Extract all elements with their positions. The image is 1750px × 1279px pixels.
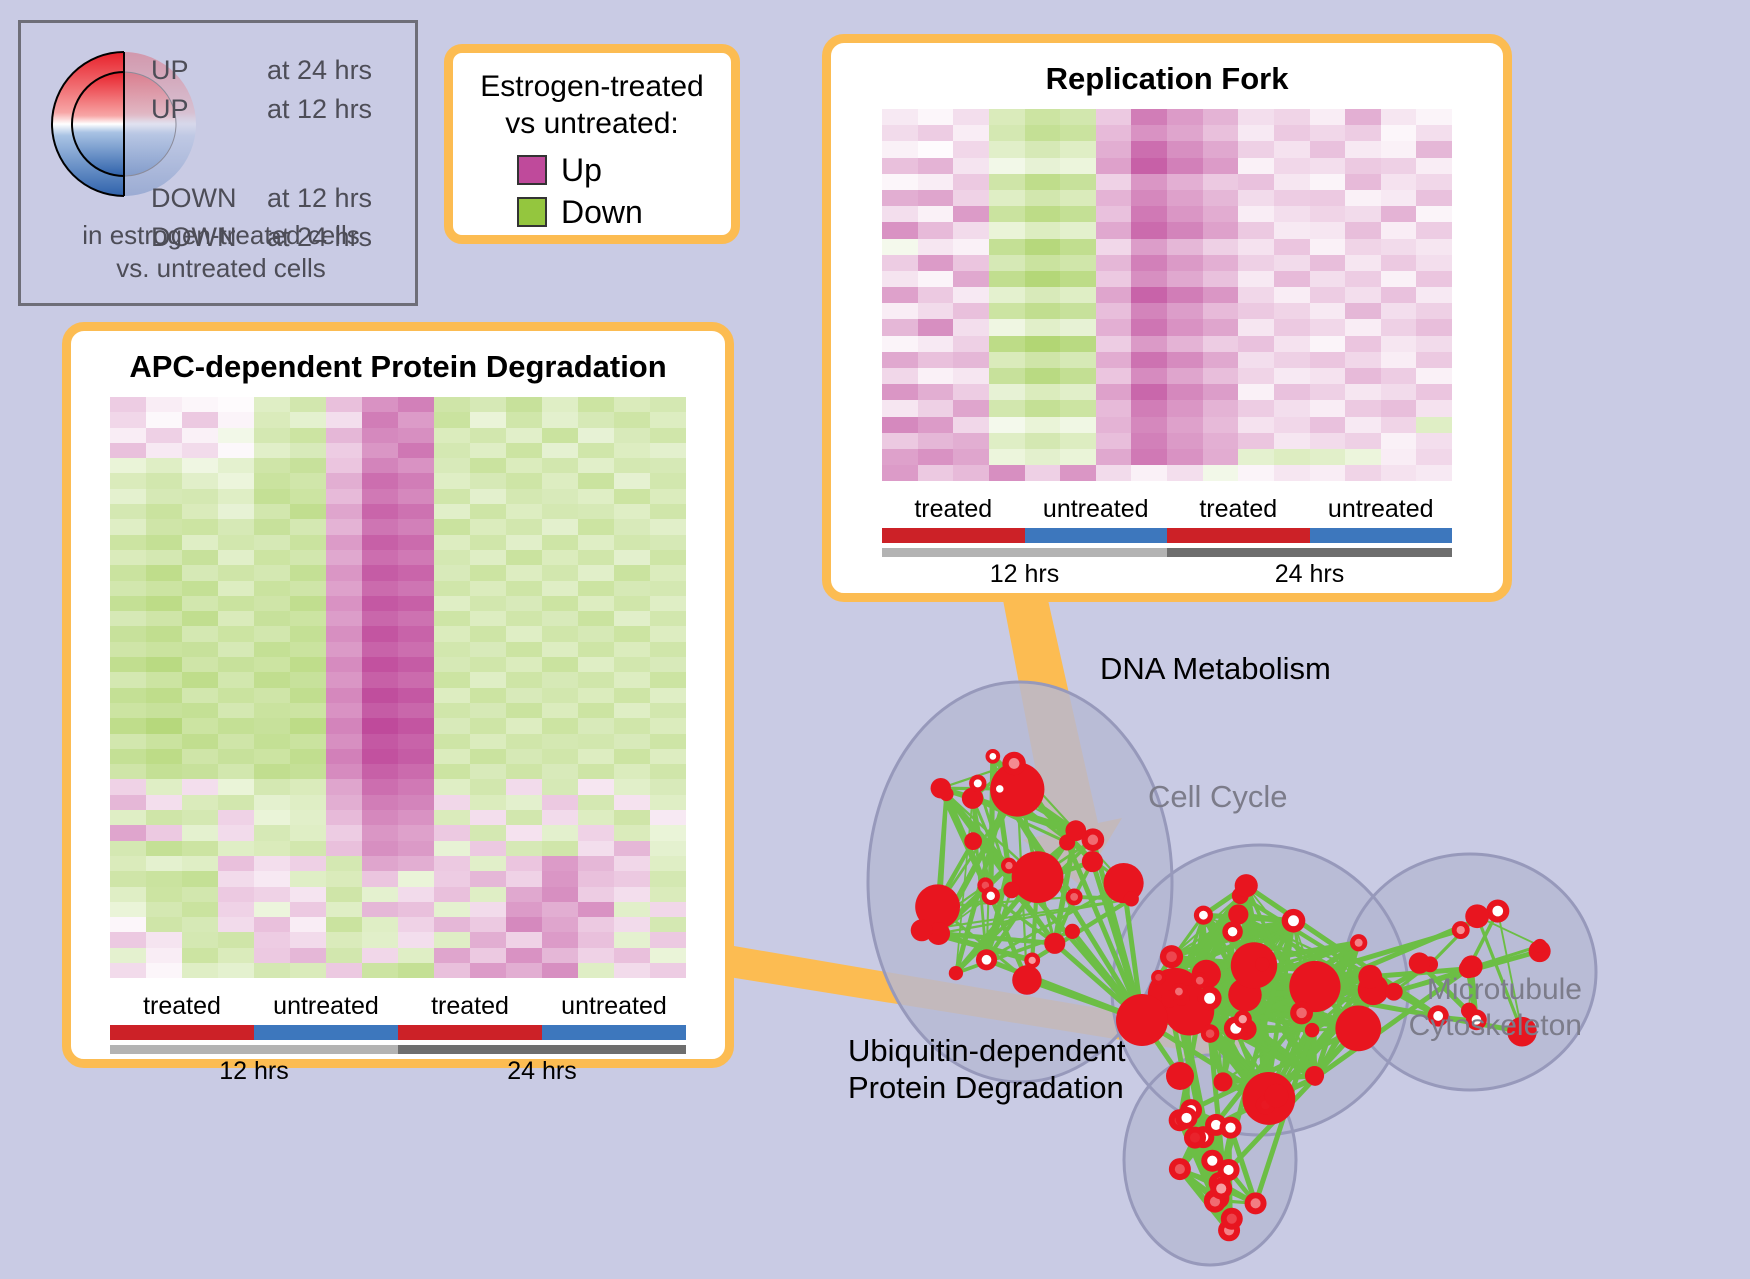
network-node[interactable]: [1012, 965, 1042, 995]
heatmap-cell: [182, 795, 218, 810]
heatmap-cell: [882, 158, 918, 174]
heatmap-cell: [254, 795, 290, 810]
network-node[interactable]: [969, 775, 986, 792]
network-node[interactable]: [992, 781, 1008, 797]
node-core: [1288, 915, 1299, 926]
heatmap-cell: [1131, 433, 1167, 449]
network-node[interactable]: [1198, 986, 1222, 1010]
heatmap-cell: [290, 657, 326, 672]
heatmap-cell: [989, 400, 1025, 416]
heatmap-cell: [578, 596, 614, 611]
heatmap-cell: [989, 384, 1025, 400]
heatmap-cell: [110, 458, 146, 473]
heatmap-cell: [614, 779, 650, 794]
heatmap-cell: [218, 489, 254, 504]
heatmap-cell: [434, 672, 470, 687]
heatmap-cell: [290, 779, 326, 794]
network-node[interactable]: [1305, 1066, 1324, 1085]
network-node[interactable]: [1465, 904, 1489, 928]
network-node[interactable]: [949, 966, 963, 980]
heatmap-cell: [1203, 287, 1239, 303]
heatmap-cell: [918, 222, 954, 238]
heatmap-cell: [542, 841, 578, 856]
heatmap-cell: [326, 932, 362, 947]
network-node[interactable]: [1001, 858, 1017, 874]
heatmap-cell: [1025, 255, 1061, 271]
heatmap-cell: [470, 412, 506, 427]
heatmap-cell: [254, 657, 290, 672]
heatmap-cell: [218, 642, 254, 657]
heatmap-cell: [614, 443, 650, 458]
heatmap-cell: [470, 810, 506, 825]
heatmap-cell: [290, 871, 326, 886]
heatmap-cell: [542, 428, 578, 443]
heatmap-cell: [918, 206, 954, 222]
network-node[interactable]: [1176, 1107, 1198, 1129]
heatmap-cell: [1131, 417, 1167, 433]
group-label: treated: [1167, 495, 1310, 524]
heatmap-cell: [1167, 449, 1203, 465]
network-node[interactable]: [1222, 921, 1243, 942]
heatmap-cell: [578, 764, 614, 779]
heatmap-cell: [218, 917, 254, 932]
node-core: [1181, 1113, 1191, 1123]
heatmap-cell: [1345, 239, 1381, 255]
heatmap-cell: [614, 902, 650, 917]
heatmap-cell: [918, 433, 954, 449]
heatmap-cell: [1167, 174, 1203, 190]
heatmap-cell: [506, 642, 542, 657]
heatmap-cell: [614, 871, 650, 886]
heatmap-cell: [362, 948, 398, 963]
network-node[interactable]: [1335, 1006, 1381, 1052]
heatmap-cell: [1274, 174, 1310, 190]
heatmap-cell: [434, 841, 470, 856]
network-node[interactable]: [1220, 1117, 1242, 1139]
heatmap-cell: [362, 825, 398, 840]
timepoint-label: 24 hrs: [398, 1057, 686, 1086]
network-node[interactable]: [1124, 891, 1139, 906]
heatmap-cell: [1345, 433, 1381, 449]
heatmap-cell: [254, 428, 290, 443]
heatmap-cell: [1096, 417, 1132, 433]
heatmap-cell: [1310, 158, 1346, 174]
heatmap-cell: [326, 489, 362, 504]
network-node[interactable]: [1290, 1001, 1313, 1024]
heatmap-cell: [110, 688, 146, 703]
heatmap-cell: [578, 963, 614, 978]
heatmap-cell: [110, 519, 146, 534]
heatmap-cell: [918, 336, 954, 352]
heatmap-cell: [398, 581, 434, 596]
heatmap-cell: [1167, 303, 1203, 319]
heatmap-cell: [146, 841, 182, 856]
heatmap-cell: [1274, 271, 1310, 287]
network-node[interactable]: [1282, 909, 1306, 933]
heatmap-cell: [146, 825, 182, 840]
heatmap-cell: [470, 963, 506, 978]
heatmap-cell: [1416, 303, 1452, 319]
heatmap-cell: [1238, 125, 1274, 141]
heatmap-cell: [254, 810, 290, 825]
heatmap-cell: [953, 303, 989, 319]
heatmap-cell: [470, 443, 506, 458]
heatmap-cell: [110, 535, 146, 550]
heatmap-cell: [110, 642, 146, 657]
node-core: [987, 892, 995, 900]
heatmap-cell: [470, 473, 506, 488]
heatmap-cell: [362, 428, 398, 443]
heatmap-cell: [542, 504, 578, 519]
network-node[interactable]: [1231, 942, 1277, 988]
heatmap-cell: [1096, 449, 1132, 465]
heatmap-cell: [470, 657, 506, 672]
heatmap-cell: [398, 412, 434, 427]
heatmap-cell: [1238, 287, 1274, 303]
heatmap-cell: [989, 125, 1025, 141]
heatmap-cell: [362, 672, 398, 687]
network-node[interactable]: [1305, 1023, 1319, 1037]
heatmap-cell: [1274, 255, 1310, 271]
heatmap-cell: [918, 303, 954, 319]
heatmap-cell: [470, 642, 506, 657]
heatmap-cell: [470, 596, 506, 611]
heatmap-cell: [506, 657, 542, 672]
heatmap-cell: [1060, 336, 1096, 352]
network-node[interactable]: [1452, 921, 1470, 939]
heatmap-cell: [542, 688, 578, 703]
network-node[interactable]: [982, 887, 1000, 905]
heatmap-cell: [1025, 222, 1061, 238]
network-node[interactable]: [1082, 851, 1103, 872]
heatmap-cell: [326, 657, 362, 672]
heatmap-cell: [326, 795, 362, 810]
heatmap-cell: [362, 535, 398, 550]
heatmap-cell: [434, 764, 470, 779]
network-node[interactable]: [976, 949, 997, 970]
network-node[interactable]: [1486, 900, 1509, 923]
heatmap-cell: [1096, 125, 1132, 141]
heatmap-cell: [1310, 222, 1346, 238]
heatmap-cell: [254, 841, 290, 856]
heatmap-cell: [614, 764, 650, 779]
heatmap-cell: [110, 948, 146, 963]
heatmap-cell: [146, 489, 182, 504]
heatmap-cell: [218, 412, 254, 427]
heatmap-cell: [542, 443, 578, 458]
heatmap-cell: [506, 948, 542, 963]
heatmap-cell: [146, 902, 182, 917]
heatmap-cell: [542, 672, 578, 687]
heatmap-cell: [578, 642, 614, 657]
network-node[interactable]: [1533, 939, 1547, 953]
heatmap-cell: [1381, 206, 1417, 222]
heatmap-cell: [182, 428, 218, 443]
bar-segment: [542, 1025, 686, 1040]
heatmap-cell: [578, 397, 614, 412]
heatmap-cell: [1416, 287, 1452, 303]
heatmap-cell: [506, 443, 542, 458]
network-node[interactable]: [1265, 1084, 1289, 1108]
heatmap-cell: [614, 504, 650, 519]
heatmap-cell: [1310, 206, 1346, 222]
heatmap-cell: [110, 657, 146, 672]
heatmap-cell: [506, 535, 542, 550]
heatmap-cell: [1060, 255, 1096, 271]
network-node[interactable]: [931, 778, 951, 798]
cluster-label-ubiquitin-dependent-protein-degradation: Ubiquitin-dependent Protein Degradation: [848, 1032, 1126, 1106]
heatmap-cell: [398, 473, 434, 488]
heatmap-cell: [146, 718, 182, 733]
heatmap-cell: [1096, 239, 1132, 255]
heatmap-cell: [989, 465, 1025, 481]
heatmap-cell: [362, 397, 398, 412]
network-node[interactable]: [1235, 874, 1258, 897]
heatmap-cell: [953, 109, 989, 125]
network-node[interactable]: [1255, 957, 1269, 971]
heatmap-cell: [614, 841, 650, 856]
bar-segment: [882, 548, 1167, 557]
heatmap-cell: [1096, 287, 1132, 303]
heatmap-cell: [362, 443, 398, 458]
network-node[interactable]: [1024, 952, 1040, 968]
heatmap-cell: [650, 734, 686, 749]
heatmap-cell: [650, 473, 686, 488]
heatmap-cell: [470, 688, 506, 703]
network-node[interactable]: [1245, 1192, 1267, 1214]
heatmap-cell: [362, 734, 398, 749]
heatmap-cell: [398, 825, 434, 840]
heatmap-cell: [326, 504, 362, 519]
heatmap-cell: [1345, 303, 1381, 319]
heatmap-cell: [506, 688, 542, 703]
heatmap-cell: [398, 443, 434, 458]
heatmap-cell: [1131, 109, 1167, 125]
heatmap-cell: [290, 519, 326, 534]
heatmap-cell: [578, 948, 614, 963]
heatmap-cell: [326, 963, 362, 978]
heatmap-cell: [882, 319, 918, 335]
heatmap-cell: [218, 473, 254, 488]
heatmap-cell: [882, 190, 918, 206]
heatmap-cell: [290, 611, 326, 626]
node-core: [1175, 1164, 1185, 1174]
heatmap-cell: [146, 795, 182, 810]
heatmap-cell: [614, 535, 650, 550]
heatmap-cell: [1274, 190, 1310, 206]
heatmap-cell: [578, 795, 614, 810]
heatmap-cell: [1025, 319, 1061, 335]
heatmap-cell: [398, 932, 434, 947]
heatmap-cell: [434, 703, 470, 718]
network-node[interactable]: [1213, 1072, 1232, 1091]
heatmap-cell: [650, 841, 686, 856]
heatmap-cell: [398, 626, 434, 641]
network-node[interactable]: [1184, 1127, 1206, 1149]
heatmap-cell: [398, 596, 434, 611]
heatmap-cell: [1274, 222, 1310, 238]
network-node[interactable]: [1201, 1024, 1220, 1043]
heatmap-cell: [989, 239, 1025, 255]
heatmap-cell: [290, 581, 326, 596]
heatmap-cell: [506, 565, 542, 580]
heatmap-cell: [434, 810, 470, 825]
heatmap-cell: [989, 190, 1025, 206]
node-core: [1029, 957, 1036, 964]
heatmap-cell: [470, 550, 506, 565]
node-core: [1457, 926, 1465, 934]
heatmap-cell: [326, 519, 362, 534]
heatmap-cell: [1096, 465, 1132, 481]
heatmap-cell: [542, 795, 578, 810]
heatmap-cell: [182, 688, 218, 703]
network-node[interactable]: [1170, 983, 1187, 1000]
network-node[interactable]: [1160, 945, 1183, 968]
heatmap-cell: [989, 303, 1025, 319]
heatmap-cell: [146, 397, 182, 412]
heatmap-cell: [470, 887, 506, 902]
network-node[interactable]: [964, 832, 982, 850]
network-node[interactable]: [1409, 952, 1430, 973]
heatmap-cell: [110, 672, 146, 687]
heatmap-cell: [398, 902, 434, 917]
heatmap-cell: [218, 626, 254, 641]
heatmap-cell: [578, 749, 614, 764]
heatmap-cell: [1203, 239, 1239, 255]
heatmap-cell: [434, 642, 470, 657]
heatmap-cell: [882, 125, 918, 141]
network-node[interactable]: [1234, 1010, 1252, 1028]
heatmap-cell: [1345, 368, 1381, 384]
heatmap-cell: [254, 871, 290, 886]
heatmap-cell: [1203, 109, 1239, 125]
heatmap-cell: [1274, 158, 1310, 174]
heatmap-cell: [918, 417, 954, 433]
heatmap-cell: [326, 749, 362, 764]
heatmap-cell: [362, 642, 398, 657]
heatmap-cell: [989, 222, 1025, 238]
heatmap-cell: [614, 795, 650, 810]
heatmap-cell: [882, 400, 918, 416]
network-node[interactable]: [986, 749, 1001, 764]
heatmap-cell: [1345, 141, 1381, 157]
heatmap-cell: [1096, 222, 1132, 238]
heatmap-cell: [218, 550, 254, 565]
network-node[interactable]: [1065, 924, 1080, 939]
cluster-label-dna-metabolism: DNA Metabolism: [1100, 650, 1331, 687]
heatmap-cell: [218, 581, 254, 596]
network-node[interactable]: [1194, 906, 1213, 925]
heatmap-cell: [953, 400, 989, 416]
heatmap-cell: [254, 489, 290, 504]
heatmap-cell: [1096, 319, 1132, 335]
network-node[interactable]: [1066, 888, 1083, 905]
heatmap-cell: [1025, 433, 1061, 449]
heatmap-cell: [1416, 336, 1452, 352]
bar-segment: [1167, 528, 1310, 543]
heatmap-cell: [1167, 465, 1203, 481]
heatmap-cell: [434, 825, 470, 840]
heatmap-cell: [1345, 109, 1381, 125]
heatmap-cell: [218, 795, 254, 810]
heatmap-cell: [650, 688, 686, 703]
heatmap-cell: [1060, 417, 1096, 433]
network-node[interactable]: [1210, 1178, 1232, 1200]
network-node[interactable]: [1065, 820, 1086, 841]
heatmap-cell: [434, 932, 470, 947]
network-node[interactable]: [1044, 933, 1065, 954]
network-node[interactable]: [1002, 752, 1025, 775]
heatmap-cell: [542, 458, 578, 473]
heatmap-cell: [218, 504, 254, 519]
heatmap-cell: [110, 841, 146, 856]
heatmap-cell: [1203, 368, 1239, 384]
heatmap-cell: [882, 368, 918, 384]
network-node[interactable]: [1350, 934, 1367, 951]
network-node[interactable]: [1012, 851, 1064, 903]
heatmap-cell: [506, 795, 542, 810]
heatmap-cell: [1274, 239, 1310, 255]
heatmap-cell: [1310, 368, 1346, 384]
heatmap-cell: [1203, 336, 1239, 352]
timepoint-label: 24 hrs: [1167, 560, 1452, 589]
heatmap-cell: [254, 626, 290, 641]
heatmap-cell: [326, 902, 362, 917]
network-node[interactable]: [1221, 1208, 1243, 1230]
heatmap-cell: [1310, 109, 1346, 125]
heatmap-cell: [110, 963, 146, 978]
network-node[interactable]: [1166, 1062, 1194, 1090]
heatmap-cell: [470, 581, 506, 596]
heatmap-cell: [1025, 336, 1061, 352]
heatmap-cell: [1274, 449, 1310, 465]
heatmap-cell: [953, 239, 989, 255]
node-core: [982, 955, 992, 965]
heatmap-cell: [434, 902, 470, 917]
network-node[interactable]: [1151, 970, 1166, 985]
heatmap-cell: [578, 779, 614, 794]
heatmap-cell: [506, 749, 542, 764]
heatmap-cell: [146, 581, 182, 596]
heatmap-cell: [254, 672, 290, 687]
heatmap-cell: [1203, 174, 1239, 190]
network-node[interactable]: [1191, 972, 1208, 989]
heatmap-cell: [542, 871, 578, 886]
heatmap-cell: [470, 871, 506, 886]
heatmap-cell: [290, 795, 326, 810]
heatmap-cell: [1345, 190, 1381, 206]
network-node[interactable]: [911, 919, 933, 941]
heatmap-cell: [326, 535, 362, 550]
heatmap-cell: [1238, 319, 1274, 335]
heatmap-cell: [614, 810, 650, 825]
heatmap-cell: [1274, 417, 1310, 433]
heatmap-cell: [1416, 109, 1452, 125]
heatmap-cell: [578, 535, 614, 550]
network-node[interactable]: [1169, 1158, 1191, 1180]
heatmap-cell: [290, 504, 326, 519]
heatmap-cell: [882, 417, 918, 433]
heatmap-cell: [578, 718, 614, 733]
network-node[interactable]: [1358, 965, 1382, 989]
heatmap-cell: [182, 397, 218, 412]
network-node[interactable]: [1003, 882, 1020, 899]
heatmap-cell: [1274, 287, 1310, 303]
heatmap-cell: [1310, 125, 1346, 141]
heatmap-cell: [290, 473, 326, 488]
heatmap-cell: [650, 565, 686, 580]
heatmap-cell: [218, 458, 254, 473]
